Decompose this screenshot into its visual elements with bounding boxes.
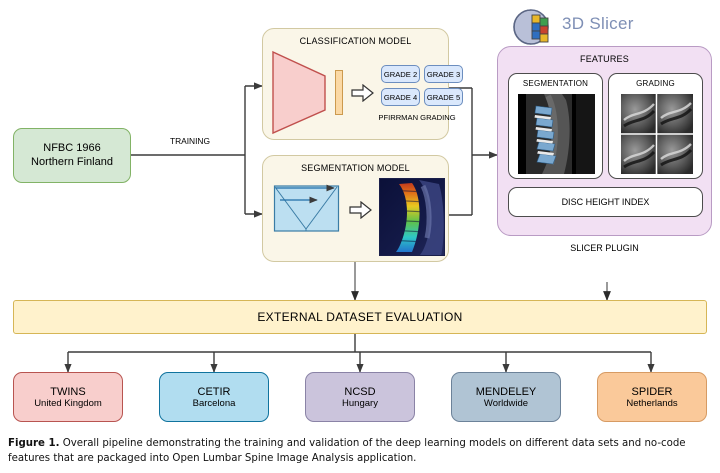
features-title: FEATURES [498, 54, 711, 64]
flow-arrow-icon-2 [349, 201, 373, 219]
dataset-node-twins[interactable]: TWINS United Kingdom [13, 372, 123, 422]
segmentation-model-group[interactable]: SEGMENTATION MODEL [262, 155, 449, 262]
dataset-region: Hungary [342, 398, 378, 409]
classification-model-group[interactable]: CLASSIFICATION MODEL GRADE 2 GRADE 3 GRA… [262, 28, 449, 140]
grade-chip-3[interactable]: GRADE 4 [381, 88, 420, 106]
features-card-grading[interactable]: GRADING [608, 73, 703, 179]
unet-architecture-icon [273, 184, 341, 234]
grade-chip-4[interactable]: GRADE 5 [424, 88, 463, 106]
source-dataset-name: NFBC 1966 [43, 142, 100, 155]
figure-caption-label: Figure 1. [8, 438, 59, 449]
figure-panel: NFBC 1966 Northern Finland TRAINING CLAS… [0, 0, 720, 473]
slicer-brand-text: 3D Slicer [562, 14, 634, 34]
dataset-node-cetir[interactable]: CETIR Barcelona [159, 372, 269, 422]
features-card-disc-height-index[interactable]: DISC HEIGHT INDEX [508, 187, 703, 217]
source-dataset-subtitle: Northern Finland [31, 156, 113, 169]
dataset-node-spider[interactable]: SPIDER Netherlands [597, 372, 707, 422]
grade-chip-1[interactable]: GRADE 2 [381, 65, 420, 83]
features-panel[interactable]: FEATURES SEGMENTATION [497, 46, 712, 236]
slicer-plugin-label: SLICER PLUGIN [497, 243, 712, 253]
grade-chip-2[interactable]: GRADE 3 [424, 65, 463, 83]
encoder-trapezoid-icon [271, 50, 327, 135]
dataset-region: Netherlands [626, 398, 677, 409]
classification-model-title: CLASSIFICATION MODEL [263, 36, 448, 46]
grading-mri-grid-image [621, 94, 693, 174]
slicer-logo-icon [512, 6, 556, 46]
dataset-region: Worldwide [484, 398, 528, 409]
segmentation-output-heatmap [379, 178, 445, 256]
dataset-node-mendeley[interactable]: MENDELEY Worldwide [451, 372, 561, 422]
features-card-segmentation-title: SEGMENTATION [509, 79, 602, 88]
bottleneck-bar-icon [335, 70, 343, 115]
figure-caption-text: Overall pipeline demonstrating the train… [8, 438, 686, 464]
dataset-name: CETIR [198, 386, 231, 398]
spine-segmentation-image [518, 94, 595, 174]
flow-arrow-icon [351, 84, 375, 102]
dataset-node-ncsd[interactable]: NCSD Hungary [305, 372, 415, 422]
dataset-name: NCSD [344, 386, 375, 398]
segmentation-model-title: SEGMENTATION MODEL [263, 163, 448, 173]
external-dataset-evaluation-bar[interactable]: EXTERNAL DATASET EVALUATION [13, 300, 707, 334]
dataset-name: MENDELEY [476, 386, 537, 398]
features-card-grading-title: GRADING [609, 79, 702, 88]
training-edge-label: TRAINING [150, 136, 230, 146]
dataset-region: Barcelona [193, 398, 236, 409]
figure-caption: Figure 1. Overall pipeline demonstrating… [8, 437, 712, 467]
dataset-name: SPIDER [632, 386, 673, 398]
dataset-region: United Kingdom [34, 398, 102, 409]
dataset-name: TWINS [50, 386, 85, 398]
pfirrman-grading-label: PFIRRMAN GRADING [367, 113, 467, 122]
features-card-segmentation[interactable]: SEGMENTATION [508, 73, 603, 179]
source-dataset-node[interactable]: NFBC 1966 Northern Finland [13, 128, 131, 183]
